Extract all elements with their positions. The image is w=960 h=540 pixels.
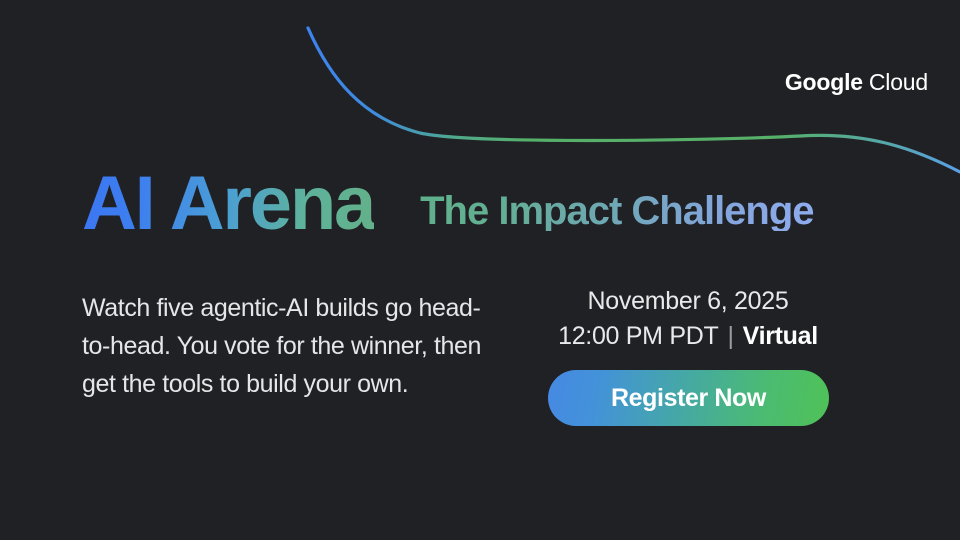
page-title: AI Arena — [82, 166, 374, 242]
page-subtitle: The Impact Challenge — [420, 191, 813, 231]
event-details: November 6, 2025 12:00 PM PDT|Virtual — [508, 284, 868, 353]
register-now-button[interactable]: Register Now — [548, 370, 829, 426]
event-date: November 6, 2025 — [508, 284, 868, 318]
logo-google-text: Google — [785, 69, 863, 95]
event-time-row: 12:00 PM PDT|Virtual — [508, 319, 868, 353]
google-cloud-logo: GoogleCloud — [785, 69, 928, 96]
hero-description: Watch five agentic-AI builds go head-to-… — [82, 289, 482, 403]
event-separator: | — [727, 322, 733, 350]
logo-cloud-text: Cloud — [869, 69, 928, 95]
headline-row: AI Arena The Impact Challenge — [82, 166, 814, 242]
event-venue: Virtual — [743, 322, 818, 350]
event-time: 12:00 PM PDT — [558, 322, 718, 350]
